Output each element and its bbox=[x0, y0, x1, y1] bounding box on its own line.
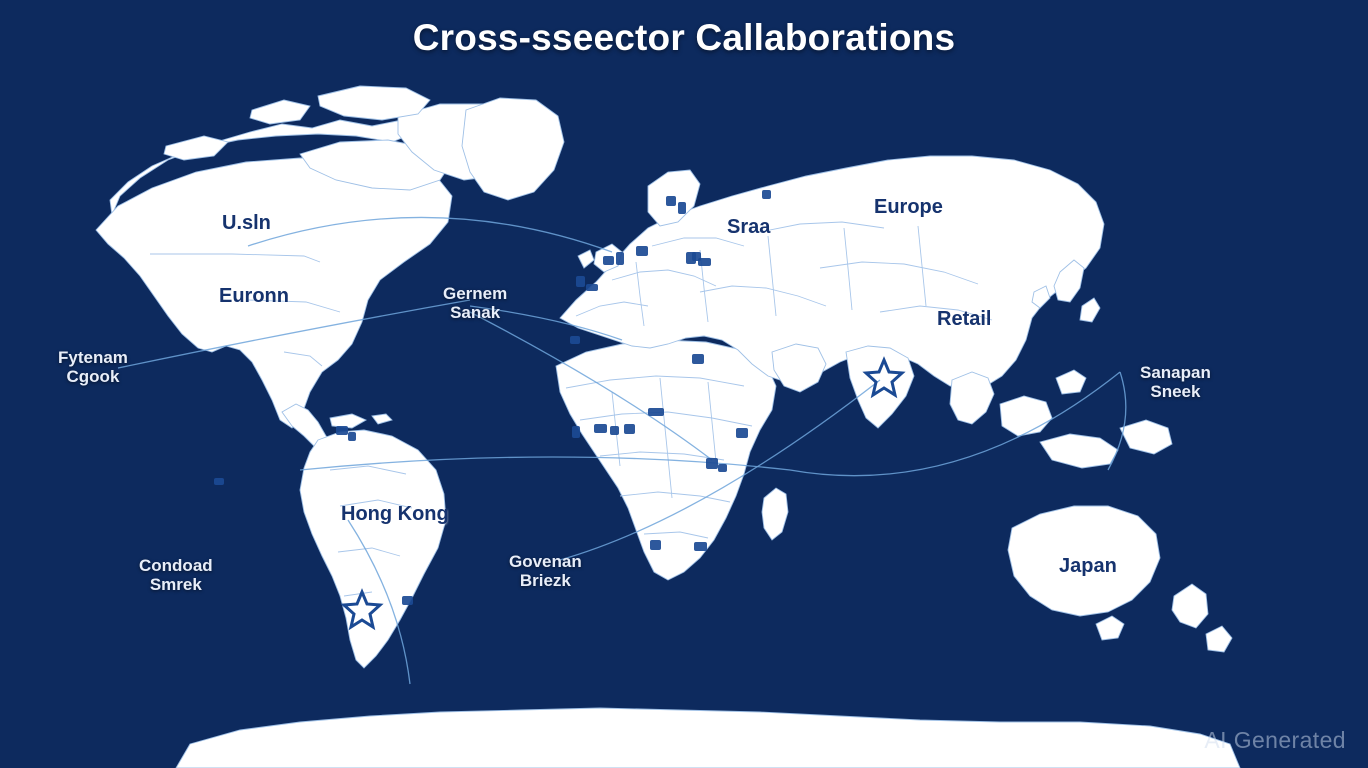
map-label-condoad-smrek[interactable]: Condoad Smrek bbox=[139, 556, 213, 594]
map-label-sanapan-sneek[interactable]: Sanapan Sneek bbox=[1140, 363, 1211, 401]
map-label-govenan-briezk[interactable]: Govenan Briezk bbox=[509, 552, 582, 590]
map-label-japan[interactable]: Japan bbox=[1059, 555, 1117, 577]
page-title: Cross-sseector Callaborations bbox=[0, 17, 1368, 59]
map-label-gernem-sanak[interactable]: Gernem Sanak bbox=[443, 284, 507, 322]
map-label-europe[interactable]: Europe bbox=[874, 196, 943, 218]
map-label-usln[interactable]: U.sln bbox=[222, 212, 271, 234]
map-label-euronn[interactable]: Euronn bbox=[219, 285, 289, 307]
map-label-retail[interactable]: Retail bbox=[937, 308, 991, 330]
slide-canvas: .land { fill:#ffffff; stroke:#9fc0e6; st… bbox=[0, 0, 1368, 768]
map-label-sraa[interactable]: Sraa bbox=[727, 216, 770, 238]
map-label-fytenam-cgook[interactable]: Fytenam Cgook bbox=[58, 348, 128, 386]
map-label-hong-kong[interactable]: Hong Kong bbox=[341, 503, 449, 525]
ai-generated-watermark: AI Generated bbox=[1204, 727, 1346, 754]
